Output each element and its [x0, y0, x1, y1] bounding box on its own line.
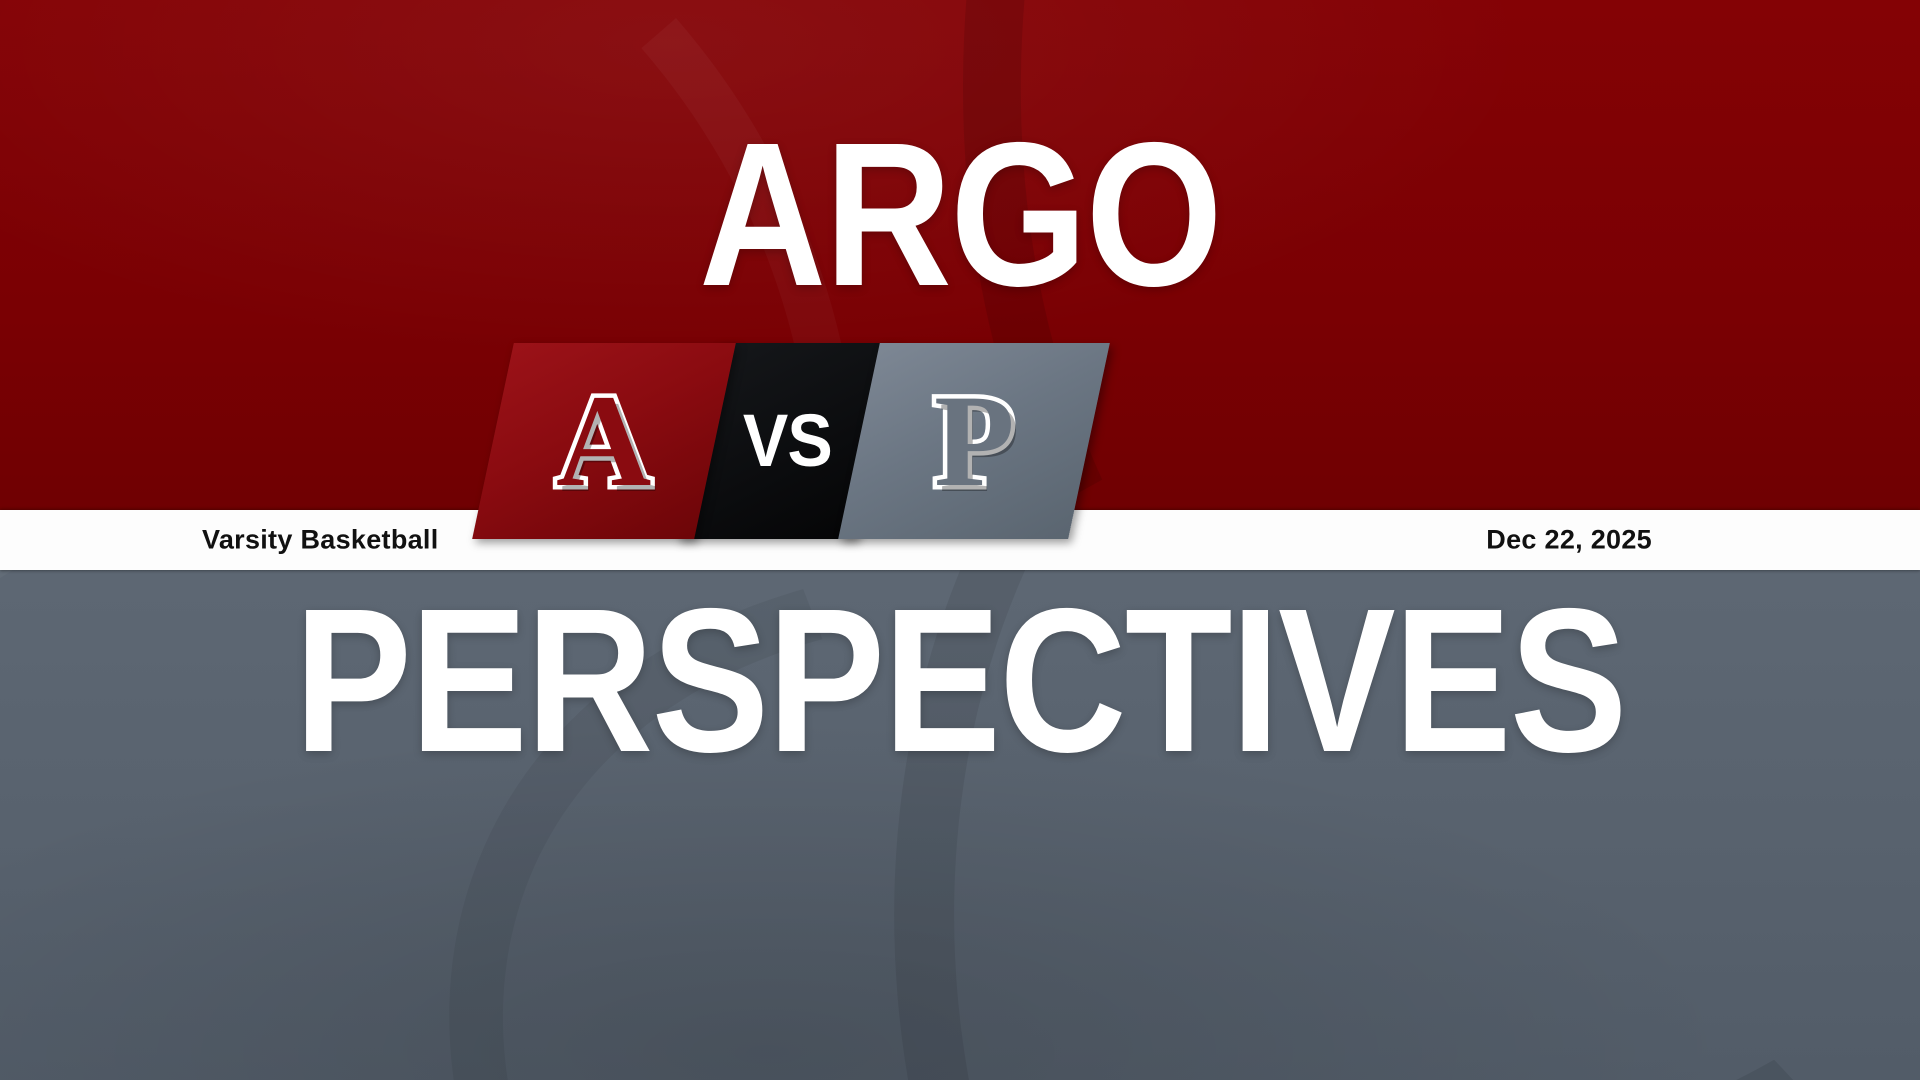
date-label: Dec 22, 2025	[1486, 525, 1652, 556]
home-team-letter: A	[556, 375, 651, 507]
matchup-badges: A VS P	[493, 343, 1093, 539]
sport-label: Varsity Basketball	[202, 525, 439, 556]
home-team-badge: A	[472, 343, 736, 539]
bottom-title: PERSPECTIVES	[134, 578, 1785, 783]
vs-label: VS	[743, 404, 832, 478]
title-card-graphic: ARGO PERSPECTIVES Varsity Basketball Dec…	[0, 0, 1920, 1080]
away-team-letter: P	[934, 375, 1015, 507]
away-team-badge: P	[838, 343, 1110, 539]
top-title: ARGO	[134, 112, 1785, 317]
